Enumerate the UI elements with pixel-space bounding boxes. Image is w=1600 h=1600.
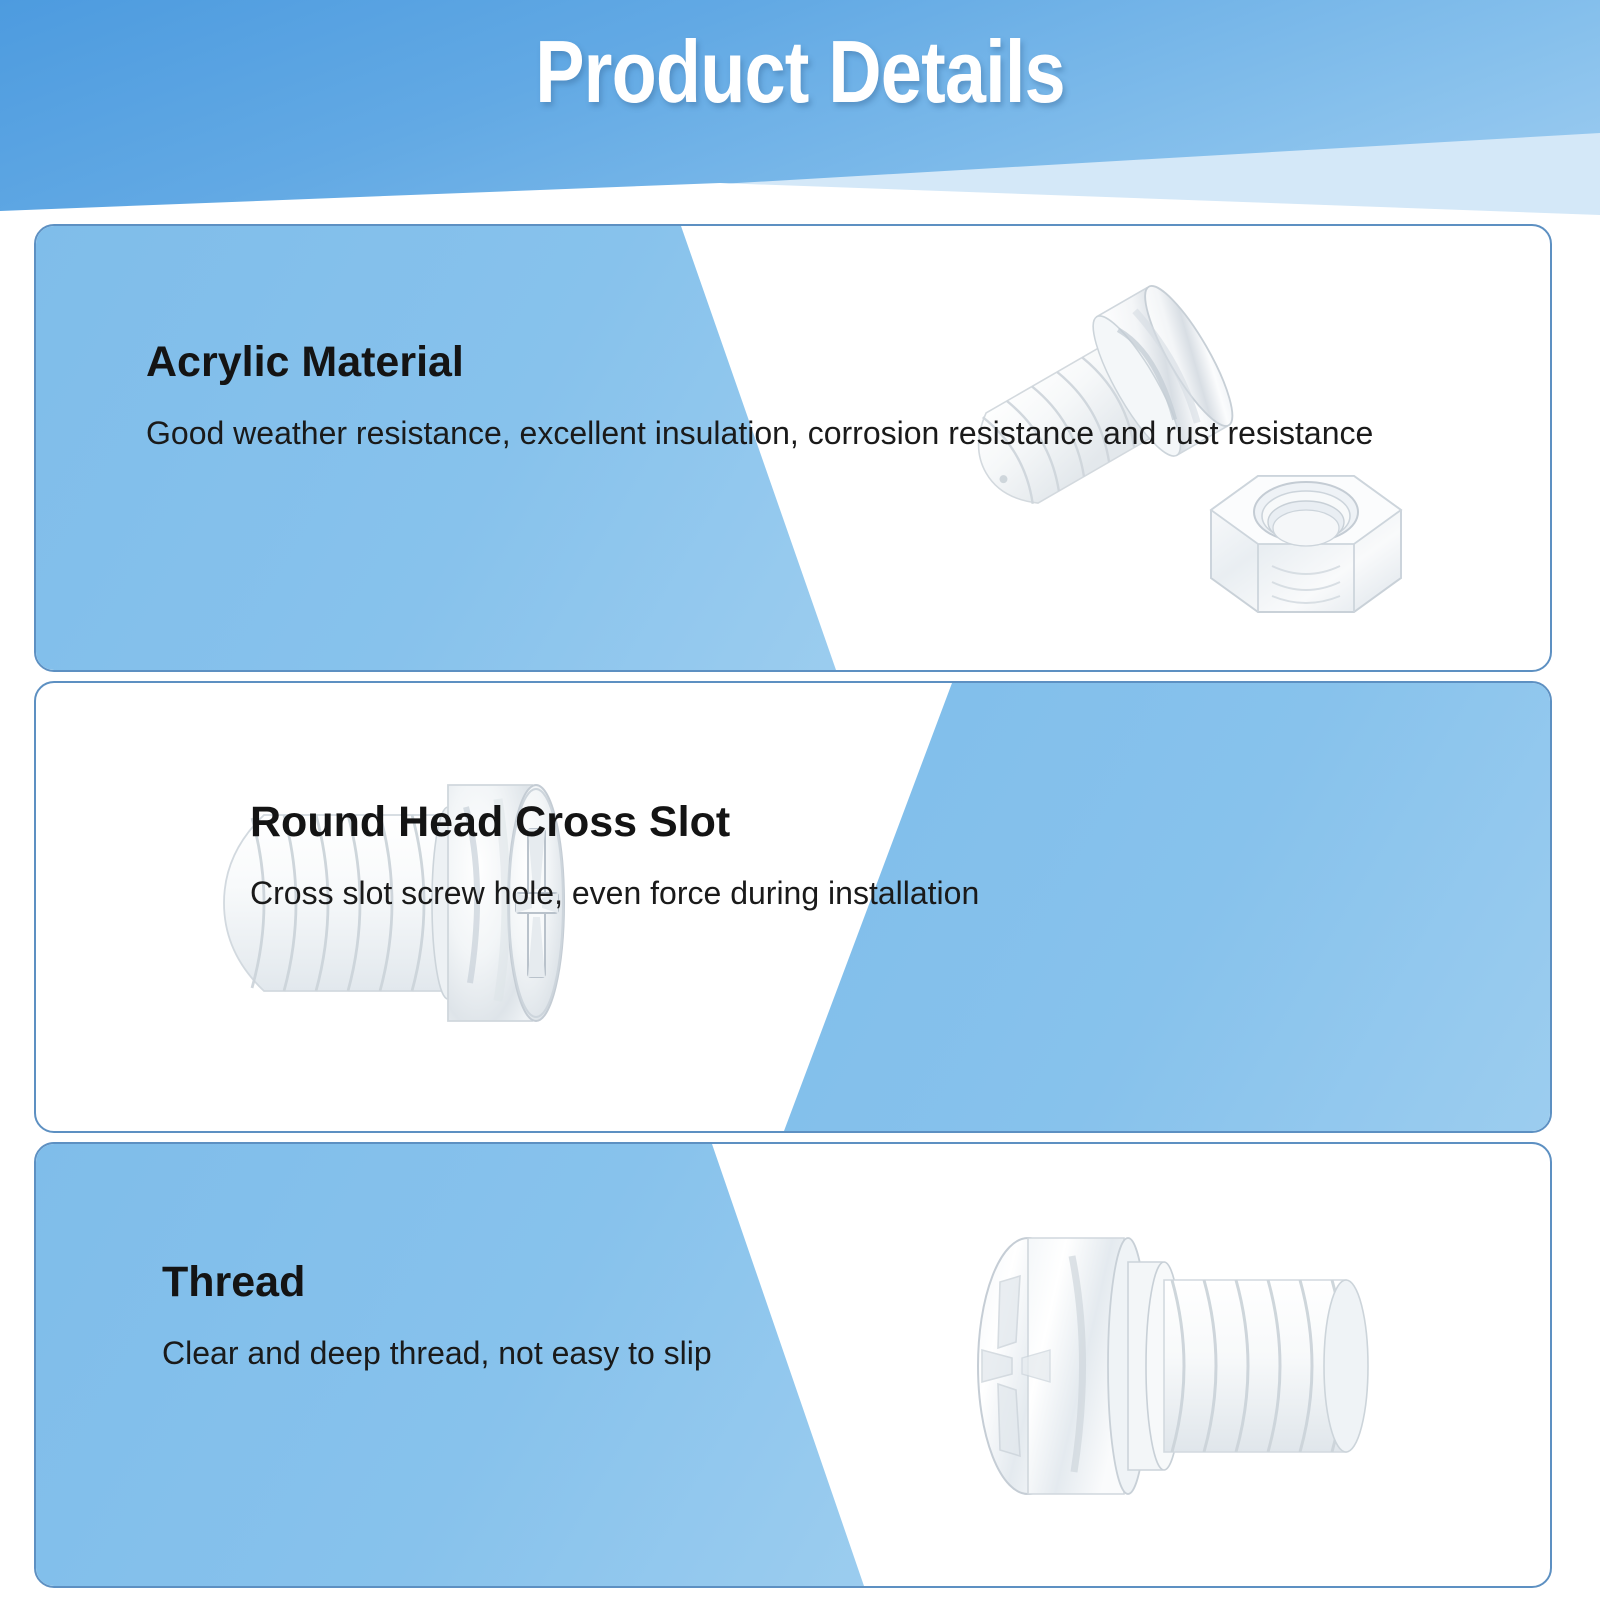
screw-thread-closeup-photo <box>936 1166 1426 1566</box>
card-description: Good weather resistance, excellent insul… <box>146 411 1373 456</box>
page-title: Product Details <box>128 24 1472 119</box>
card-description: Cross slot screw hole, even force during… <box>250 871 979 916</box>
page-header: Product Details <box>0 0 1600 215</box>
card-text-block: Thread Clear and deep thread, not easy t… <box>162 1260 712 1377</box>
card-description: Clear and deep thread, not easy to slip <box>162 1331 712 1376</box>
card-text-block: Acrylic Material Good weather resistance… <box>146 340 1373 457</box>
card-text-block: Round Head Cross Slot Cross slot screw h… <box>250 800 979 917</box>
card-title: Round Head Cross Slot <box>250 800 979 845</box>
feature-card-acrylic-material: Acrylic Material Good weather resistance… <box>34 224 1552 672</box>
card-title: Thread <box>162 1260 712 1305</box>
feature-card-thread: Thread Clear and deep thread, not easy t… <box>34 1142 1552 1588</box>
card-title: Acrylic Material <box>146 340 1373 385</box>
feature-card-round-head-cross-slot: Round Head Cross Slot Cross slot screw h… <box>34 681 1552 1133</box>
